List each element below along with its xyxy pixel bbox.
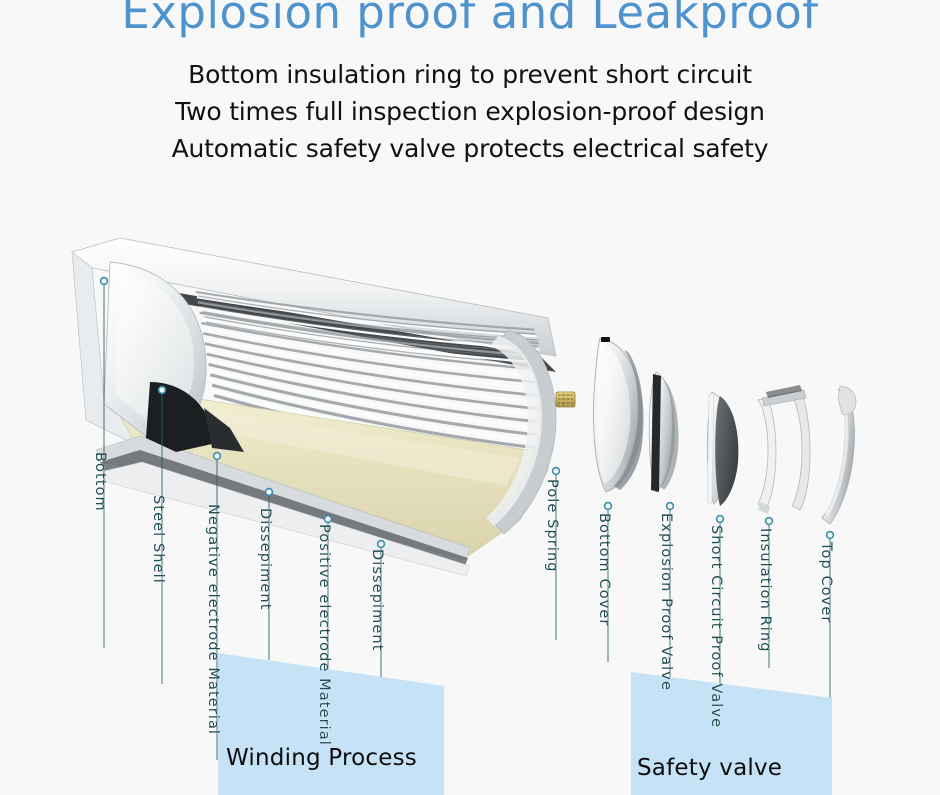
callout-label-short-circuit-proof-valve: Short Circuit Proof Valve — [708, 525, 724, 728]
explosion-proof-valve-part — [649, 372, 678, 492]
callout-label-top-cover: Top Cover — [818, 542, 834, 623]
leader-dot-negative-electrode-material — [214, 453, 221, 460]
callout-label-explosion-proof-valve: Explosion Proof Valve — [658, 513, 674, 691]
pole-spring-part — [556, 392, 575, 407]
leader-dot-positive-electrode-material — [325, 516, 332, 523]
leader-dot-short-circuit-proof-valve — [717, 516, 724, 523]
leader-dot-dissepiment-1 — [266, 489, 273, 496]
callout-label-insulation-ring: Insulation Ring — [757, 528, 773, 653]
leader-dot-insulation-ring — [766, 518, 773, 525]
callout-label-positive-electrode-material: Positive electrode Material — [316, 524, 332, 746]
callout-label-dissepiment-1: Dissepiment — [257, 508, 273, 610]
battery-exploded-diagram: Winding Process Safety valve BottomSteel… — [0, 0, 940, 795]
leader-dot-pole-spring — [553, 468, 560, 475]
leader-dot-explosion-proof-valve — [667, 503, 674, 510]
bottom-cover-part — [594, 337, 644, 492]
product-infographic: Explosion proof and Leakproof Bottom ins… — [0, 0, 940, 795]
callout-label-dissepiment-2: Dissepiment — [369, 549, 385, 651]
leader-dot-bottom — [101, 278, 108, 285]
callout-label-negative-electrode-material: Negative electrode Material — [205, 504, 221, 735]
short-circuit-proof-valve-part — [707, 392, 738, 506]
safety-valve-label: Safety valve — [637, 755, 782, 781]
battery-cutaway-body — [72, 238, 556, 576]
insulation-ring-part — [758, 385, 810, 514]
leader-dot-dissepiment-2 — [378, 541, 385, 548]
callout-label-bottom-cover: Bottom Cover — [596, 513, 612, 626]
diagram-artwork — [0, 0, 940, 795]
leader-dot-top-cover — [827, 532, 834, 539]
leader-dot-bottom-cover — [605, 503, 612, 510]
winding-process-label: Winding Process — [226, 745, 417, 771]
callout-label-steel-shell: Steel Shell — [150, 495, 166, 584]
callout-label-pole-spring: Pole Spring — [544, 479, 560, 573]
top-cover-part — [822, 386, 856, 524]
leader-dot-steel-shell — [159, 387, 166, 394]
callout-label-bottom: Bottom — [92, 452, 108, 512]
